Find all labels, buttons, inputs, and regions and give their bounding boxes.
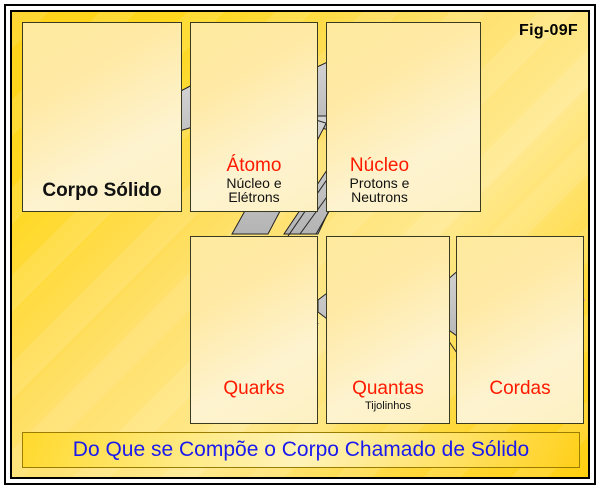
caption-quarks: Quarks — [191, 379, 317, 399]
figure-title-bar: Do Que se Compõe o Corpo Chamado de Sóli… — [22, 432, 580, 468]
panel-subtitle-nucleo-1: Protons e — [326, 176, 454, 191]
figure-title: Do Que se Compõe o Corpo Chamado de Sóli… — [73, 438, 529, 462]
panel-atomo[interactable]: Átomo Núcleo e Elétrons — [190, 22, 318, 212]
figure-root: Corpo Sólido Átomo Núcleo e Elétrons Núc… — [0, 0, 600, 489]
panel-heading-cordas: Cordas — [457, 379, 583, 399]
panel-heading-quantas: Quantas — [327, 379, 449, 399]
panel-nucleo[interactable]: Núcleo Protons e Neutrons — [326, 22, 481, 212]
panel-quantas[interactable]: Quantas Tijolinhos — [326, 236, 450, 424]
caption-nucleo: Núcleo Protons e Neutrons — [326, 156, 454, 205]
panel-corpo-solido[interactable]: Corpo Sólido — [22, 22, 182, 212]
panel-subtitle-atomo-2: Elétrons — [191, 190, 317, 205]
caption-corpo-solido: Corpo Sólido — [23, 181, 181, 201]
panel-heading-corpo-solido: Corpo Sólido — [23, 181, 181, 201]
panel-subtitle-nucleo-2: Neutrons — [326, 190, 454, 205]
panel-quarks[interactable]: Quarks — [190, 236, 318, 424]
caption-quantas: Quantas Tijolinhos — [327, 379, 449, 413]
panel-heading-nucleo: Núcleo — [326, 156, 454, 176]
caption-atomo: Átomo Núcleo e Elétrons — [191, 156, 317, 205]
panel-subtitle-quantas: Tijolinhos — [327, 401, 449, 413]
panel-subtitle-atomo-1: Núcleo e — [191, 176, 317, 191]
panel-heading-quarks: Quarks — [191, 379, 317, 399]
panel-heading-atomo: Átomo — [191, 156, 317, 176]
figure-label: Fig-09F — [519, 22, 578, 40]
caption-cordas: Cordas — [457, 379, 583, 399]
panel-cordas[interactable]: Cordas — [456, 236, 584, 424]
